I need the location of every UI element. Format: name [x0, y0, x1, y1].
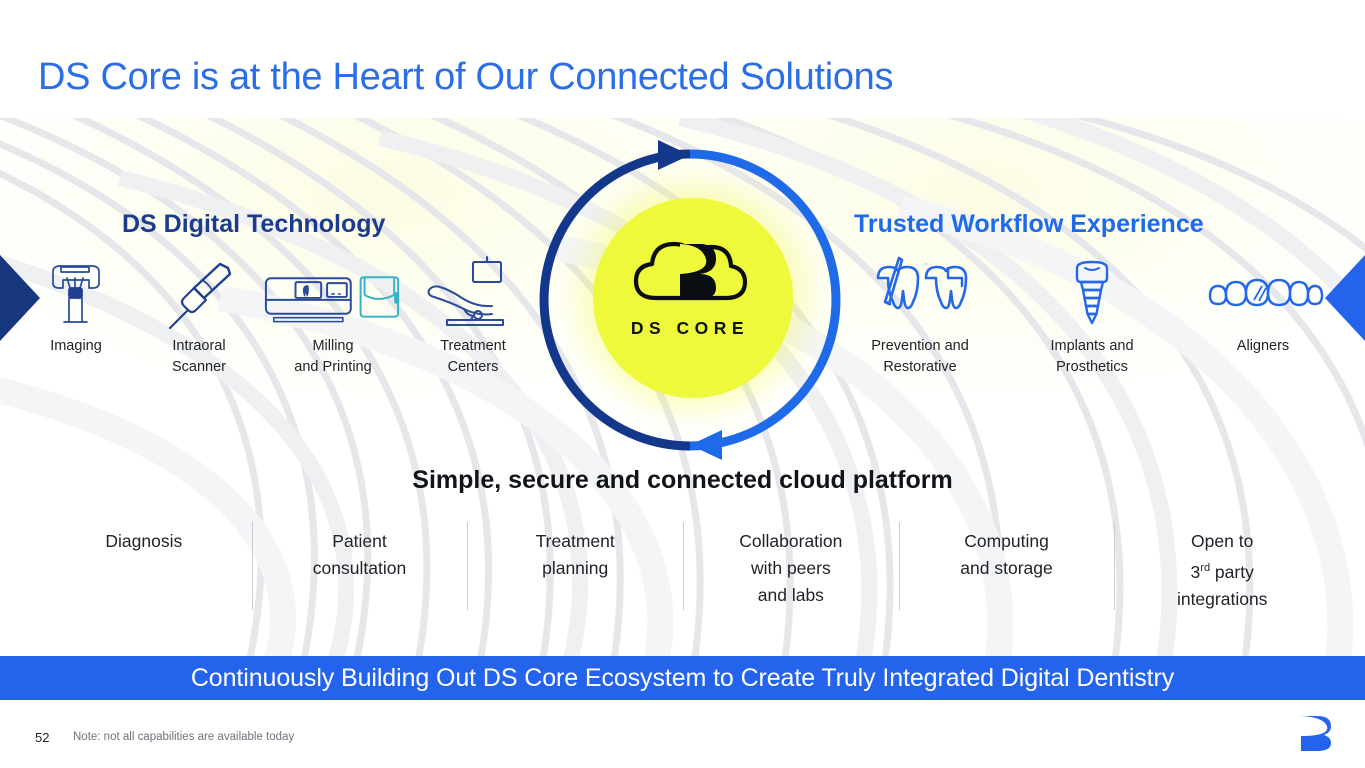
dental-implant-icon-box: [1022, 252, 1162, 330]
treatment-center-chair-icon: [423, 256, 523, 330]
capability-line: Collaboration: [689, 528, 893, 555]
treatment-center-chair-icon-box: [413, 252, 533, 330]
capability-line: integrations: [1120, 586, 1324, 613]
capability-label-milling-printing: Milling and Printing: [260, 336, 406, 378]
capability-third-party-integrations: Open to 3rd party integrations: [1114, 528, 1330, 613]
capability-label-implants-prosthetics: Implants and Prosthetics: [1022, 336, 1162, 378]
capability-line: planning: [473, 555, 677, 582]
capability-diagnosis: Diagnosis: [36, 528, 252, 555]
aligners-teeth-icon-box: [1196, 252, 1330, 330]
capability-label-aligners: Aligners: [1196, 336, 1330, 357]
capability-icon-intraoral-scanner: Intraoral Scanner: [143, 252, 255, 378]
teeth-prevention-icon-box: [850, 252, 990, 330]
slide-canvas: DS Core is at the Heart of Our Connected…: [0, 0, 1365, 768]
capability-line: with peers: [689, 555, 893, 582]
capability-icon-imaging: Imaging: [16, 252, 136, 357]
section-heading-workflow-experience: Trusted Workflow Experience: [854, 210, 1204, 239]
capability-icon-implants-prosthetics: Implants and Prosthetics: [1022, 252, 1162, 378]
bottom-banner-text: Continuously Building Out DS Core Ecosys…: [0, 664, 1365, 693]
capability-icon-milling-printing: Milling and Printing: [260, 252, 406, 378]
capability-line: Treatment: [473, 528, 677, 555]
label-line: Milling and Printing: [294, 338, 371, 375]
imaging-xray-icon: [39, 256, 113, 330]
capability-icon-aligners: Aligners: [1196, 252, 1330, 357]
capability-icon-prevention-restorative: Prevention and Restorative: [850, 252, 990, 378]
imaging-xray-icon-box: [16, 252, 136, 330]
section-heading-digital-technology: DS Digital Technology: [122, 210, 385, 239]
right-edge-arrow: [1325, 255, 1365, 341]
platform-headline: Simple, secure and connected cloud platf…: [0, 466, 1365, 495]
ds-core-wordmark: DS CORE: [530, 318, 850, 339]
ordinal-tail: party: [1210, 562, 1254, 582]
teeth-prevention-icon: [864, 256, 976, 330]
capability-line: Diagnosis: [42, 528, 246, 555]
capability-line: Open to: [1120, 528, 1324, 555]
ring-arrow-top: [658, 140, 690, 170]
footnote-text: Note: not all capabilities are available…: [73, 731, 294, 743]
ring-arrow-bottom: [690, 430, 722, 460]
dental-implant-icon: [1061, 256, 1123, 330]
page-title: DS Core is at the Heart of Our Connected…: [38, 56, 893, 99]
capability-label-prevention-restorative: Prevention and Restorative: [850, 336, 990, 378]
label-line: Treatment Centers: [440, 338, 506, 375]
capability-line-ordinal: 3rd party: [1120, 555, 1324, 586]
capability-line: Patient: [258, 528, 462, 555]
milling-printing-icon-box: [260, 252, 406, 330]
ds-core-center-graphic: DS CORE: [530, 140, 850, 460]
intraoral-scanner-icon: [158, 256, 240, 330]
ds-core-cloud-logo: [618, 218, 768, 308]
ordinal-base: 3: [1191, 562, 1201, 582]
capability-label-treatment-centers: Treatment Centers: [413, 336, 533, 378]
capability-line: Computing: [905, 528, 1109, 555]
aligners-teeth-icon: [1202, 256, 1324, 330]
capability-label-imaging: Imaging: [16, 336, 136, 357]
capability-treatment-planning: Treatment planning: [467, 528, 683, 582]
label-line: Prevention and Restorative: [871, 338, 969, 375]
capability-label-intraoral-scanner: Intraoral Scanner: [143, 336, 255, 378]
slide-page-number: 52: [35, 730, 49, 745]
capability-icon-treatment-centers: Treatment Centers: [413, 252, 533, 378]
capability-row: Diagnosis Patient consultation Treatment…: [36, 528, 1330, 624]
intraoral-scanner-icon-box: [143, 252, 255, 330]
capability-line: consultation: [258, 555, 462, 582]
capability-line: and storage: [905, 555, 1109, 582]
dentsply-sirona-logo: [1293, 712, 1339, 754]
capability-line: and labs: [689, 582, 893, 609]
capability-collaboration: Collaboration with peers and labs: [683, 528, 899, 609]
milling-printing-icon: [260, 256, 406, 330]
capability-computing-storage: Computing and storage: [899, 528, 1115, 582]
ordinal-suffix: rd: [1200, 562, 1210, 574]
bottom-banner: Continuously Building Out DS Core Ecosys…: [0, 656, 1365, 700]
capability-patient-consultation: Patient consultation: [252, 528, 468, 582]
label-line: Intraoral Scanner: [172, 338, 226, 375]
label-line: Implants and Prosthetics: [1050, 338, 1133, 375]
